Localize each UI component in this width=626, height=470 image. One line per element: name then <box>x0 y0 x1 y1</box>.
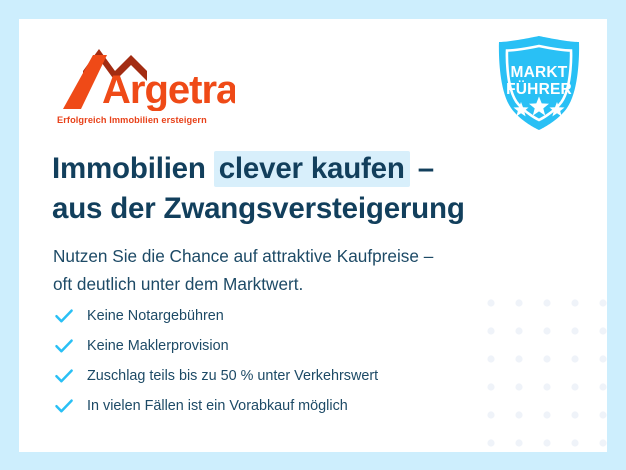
benefits-list: Keine Notargebühren Keine Maklerprovisio… <box>53 301 493 421</box>
check-icon <box>53 365 75 387</box>
benefit-label: Keine Maklerprovision <box>87 339 229 353</box>
market-leader-badge: MARKT FÜHRER <box>491 32 587 136</box>
benefit-label: Zuschlag teils bis zu 50 % unter Verkehr… <box>87 369 378 383</box>
subheadline: Nutzen Sie die Chance auf attraktive Kau… <box>53 242 573 298</box>
list-item: Keine Maklerprovision <box>53 331 493 361</box>
headline-suffix: – <box>410 152 434 185</box>
check-icon <box>53 395 75 417</box>
headline-highlight: clever kaufen <box>214 151 410 187</box>
headline-line2: aus der Zwangsversteigerung <box>52 192 465 225</box>
headline-prefix: Immobilien <box>52 152 214 185</box>
benefit-label: In vielen Fällen ist ein Vorabkauf mögli… <box>87 399 348 413</box>
page-title: Immobilien clever kaufen – aus der Zwang… <box>52 149 572 229</box>
badge-line1: MARKT <box>511 64 568 81</box>
argetra-roof-a-icon: Argetra <box>55 43 235 116</box>
headline-line1: Immobilien clever kaufen – <box>52 151 434 187</box>
dot-grid-decoration <box>477 289 607 452</box>
badge-line2: FÜHRER <box>506 81 572 98</box>
brand-logo[interactable]: Argetra Erfolgreich Immobilien ersteiger… <box>55 43 235 127</box>
list-item: Keine Notargebühren <box>53 301 493 331</box>
list-item: Zuschlag teils bis zu 50 % unter Verkehr… <box>53 361 493 391</box>
svg-text:Argetra: Argetra <box>102 68 235 111</box>
logo-tagline: Erfolgreich Immobilien ersteigern <box>57 115 207 125</box>
dot-grid-dots <box>487 299 606 452</box>
page-background-frame: Argetra Erfolgreich Immobilien ersteiger… <box>0 0 626 470</box>
subheadline-line1: Nutzen Sie die Chance auf attraktive Kau… <box>53 246 433 266</box>
check-icon <box>53 305 75 327</box>
benefit-label: Keine Notargebühren <box>87 309 224 323</box>
check-icon <box>53 335 75 357</box>
list-item: In vielen Fällen ist ein Vorabkauf mögli… <box>53 391 493 421</box>
subheadline-line2: oft deutlich unter dem Marktwert. <box>53 274 303 294</box>
promo-card: Argetra Erfolgreich Immobilien ersteiger… <box>19 19 607 452</box>
